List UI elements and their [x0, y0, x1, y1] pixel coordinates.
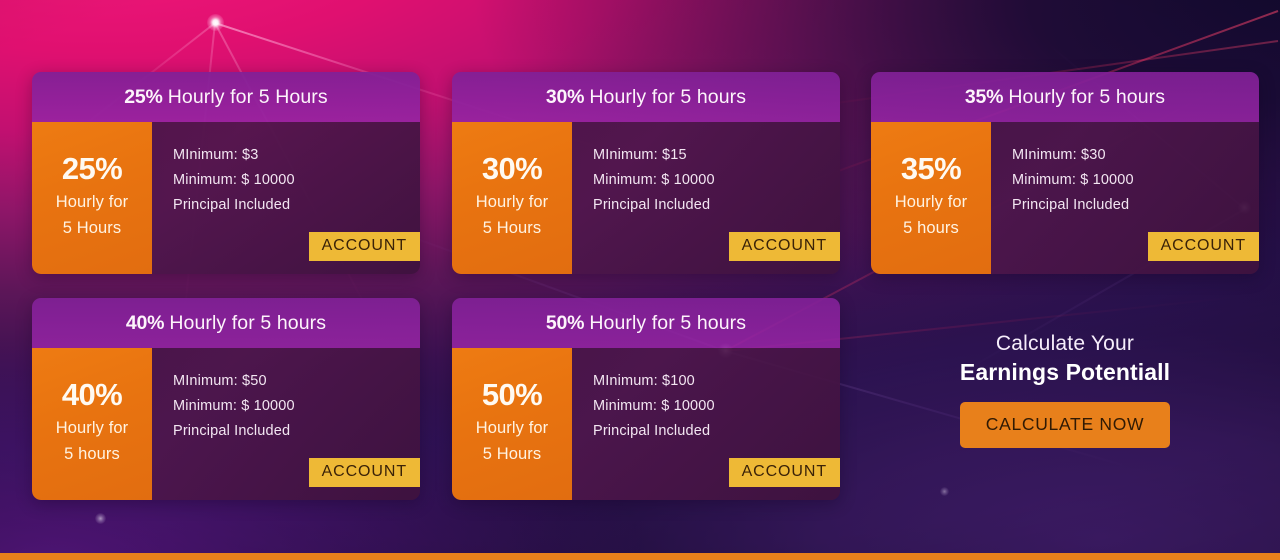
plan-cards-container: 25% Hourly for 5 Hours 25% Hourly for 5 … [0, 0, 1280, 560]
plan-card-header: 30% Hourly for 5 hours [452, 72, 840, 122]
account-button[interactable]: ACCOUNT [309, 232, 420, 261]
plan-rate-badge: 30% Hourly for 5 Hours [452, 122, 572, 274]
plan-maximum: Minimum: $ 10000 [173, 394, 420, 419]
promo-pricing-banner: 25% Hourly for 5 Hours 25% Hourly for 5 … [0, 0, 1280, 560]
plan-rate-line-2: 5 Hours [63, 216, 121, 242]
plan-card[interactable]: 50% Hourly for 5 hours 50% Hourly for 5 … [452, 298, 840, 500]
calculator-cta: Calculate Your Earnings Potentiall CALCU… [915, 330, 1215, 448]
plan-rate-line-2: 5 hours [903, 216, 959, 242]
plan-rate-badge: 50% Hourly for 5 Hours [452, 348, 572, 500]
plan-rate-percent: 25% [62, 153, 122, 186]
plan-rate-line-1: Hourly for [56, 416, 129, 442]
plan-card-header: 35% Hourly for 5 hours [871, 72, 1259, 122]
plan-principal: Principal Included [173, 193, 420, 218]
account-button[interactable]: ACCOUNT [729, 458, 840, 487]
plan-maximum: Minimum: $ 10000 [593, 168, 840, 193]
plan-minimum: MInimum: $50 [173, 369, 420, 394]
plan-rate-line-1: Hourly for [56, 190, 129, 216]
plan-rate-badge: 40% Hourly for 5 hours [32, 348, 152, 500]
account-button[interactable]: ACCOUNT [1148, 232, 1259, 261]
plan-rate-line-2: 5 Hours [483, 442, 541, 468]
plan-minimum: MInimum: $15 [593, 143, 840, 168]
plan-header-percent: 50% [546, 312, 584, 335]
plan-minimum: MInimum: $3 [173, 143, 420, 168]
plan-rate-percent: 30% [482, 153, 542, 186]
plan-details: MInimum: $30 Minimum: $ 10000 Principal … [991, 122, 1259, 274]
plan-details: MInimum: $100 Minimum: $ 10000 Principal… [572, 348, 840, 500]
plan-card-body: 40% Hourly for 5 hours MInimum: $50 Mini… [32, 348, 420, 500]
calculator-heading-line-1: Calculate Your [915, 330, 1215, 357]
plan-rate-line-2: 5 hours [64, 442, 120, 468]
plan-principal: Principal Included [173, 419, 420, 444]
plan-card-body: 25% Hourly for 5 Hours MInimum: $3 Minim… [32, 122, 420, 274]
plan-details: MInimum: $15 Minimum: $ 10000 Principal … [572, 122, 840, 274]
plan-card[interactable]: 25% Hourly for 5 Hours 25% Hourly for 5 … [32, 72, 420, 274]
account-button[interactable]: ACCOUNT [309, 458, 420, 487]
plan-header-percent: 25% [124, 86, 162, 109]
plan-rate-line-1: Hourly for [476, 416, 549, 442]
plan-maximum: Minimum: $ 10000 [1012, 168, 1259, 193]
plan-header-percent: 40% [126, 312, 164, 335]
plan-maximum: Minimum: $ 10000 [173, 168, 420, 193]
plan-details: MInimum: $3 Minimum: $ 10000 Principal I… [152, 122, 420, 274]
plan-maximum: Minimum: $ 10000 [593, 394, 840, 419]
plan-rate-percent: 40% [62, 379, 122, 412]
plan-card-header: 25% Hourly for 5 Hours [32, 72, 420, 122]
plan-header-text: Hourly for 5 hours [589, 312, 746, 335]
bottom-accent-bar [0, 553, 1280, 560]
plan-principal: Principal Included [593, 419, 840, 444]
plan-minimum: MInimum: $100 [593, 369, 840, 394]
plan-minimum: MInimum: $30 [1012, 143, 1259, 168]
plan-card-body: 35% Hourly for 5 hours MInimum: $30 Mini… [871, 122, 1259, 274]
plan-card-body: 50% Hourly for 5 Hours MInimum: $100 Min… [452, 348, 840, 500]
plan-header-percent: 30% [546, 86, 584, 109]
plan-card-header: 50% Hourly for 5 hours [452, 298, 840, 348]
plan-card[interactable]: 40% Hourly for 5 hours 40% Hourly for 5 … [32, 298, 420, 500]
plan-rate-line-2: 5 Hours [483, 216, 541, 242]
plan-rate-badge: 25% Hourly for 5 Hours [32, 122, 152, 274]
plan-principal: Principal Included [1012, 193, 1259, 218]
plan-header-text: Hourly for 5 Hours [168, 86, 328, 109]
plan-header-text: Hourly for 5 hours [589, 86, 746, 109]
plan-header-percent: 35% [965, 86, 1003, 109]
plan-header-text: Hourly for 5 hours [169, 312, 326, 335]
plan-card[interactable]: 35% Hourly for 5 hours 35% Hourly for 5 … [871, 72, 1259, 274]
plan-rate-badge: 35% Hourly for 5 hours [871, 122, 991, 274]
account-button[interactable]: ACCOUNT [729, 232, 840, 261]
plan-rate-percent: 35% [901, 153, 961, 186]
plan-card-body: 30% Hourly for 5 Hours MInimum: $15 Mini… [452, 122, 840, 274]
plan-card[interactable]: 30% Hourly for 5 hours 30% Hourly for 5 … [452, 72, 840, 274]
plan-card-header: 40% Hourly for 5 hours [32, 298, 420, 348]
plan-rate-percent: 50% [482, 379, 542, 412]
calculate-now-button[interactable]: CALCULATE NOW [960, 402, 1171, 448]
plan-rate-line-1: Hourly for [895, 190, 968, 216]
plan-details: MInimum: $50 Minimum: $ 10000 Principal … [152, 348, 420, 500]
plan-principal: Principal Included [593, 193, 840, 218]
calculator-heading-line-2: Earnings Potentiall [915, 357, 1215, 387]
plan-rate-line-1: Hourly for [476, 190, 549, 216]
plan-header-text: Hourly for 5 hours [1008, 86, 1165, 109]
